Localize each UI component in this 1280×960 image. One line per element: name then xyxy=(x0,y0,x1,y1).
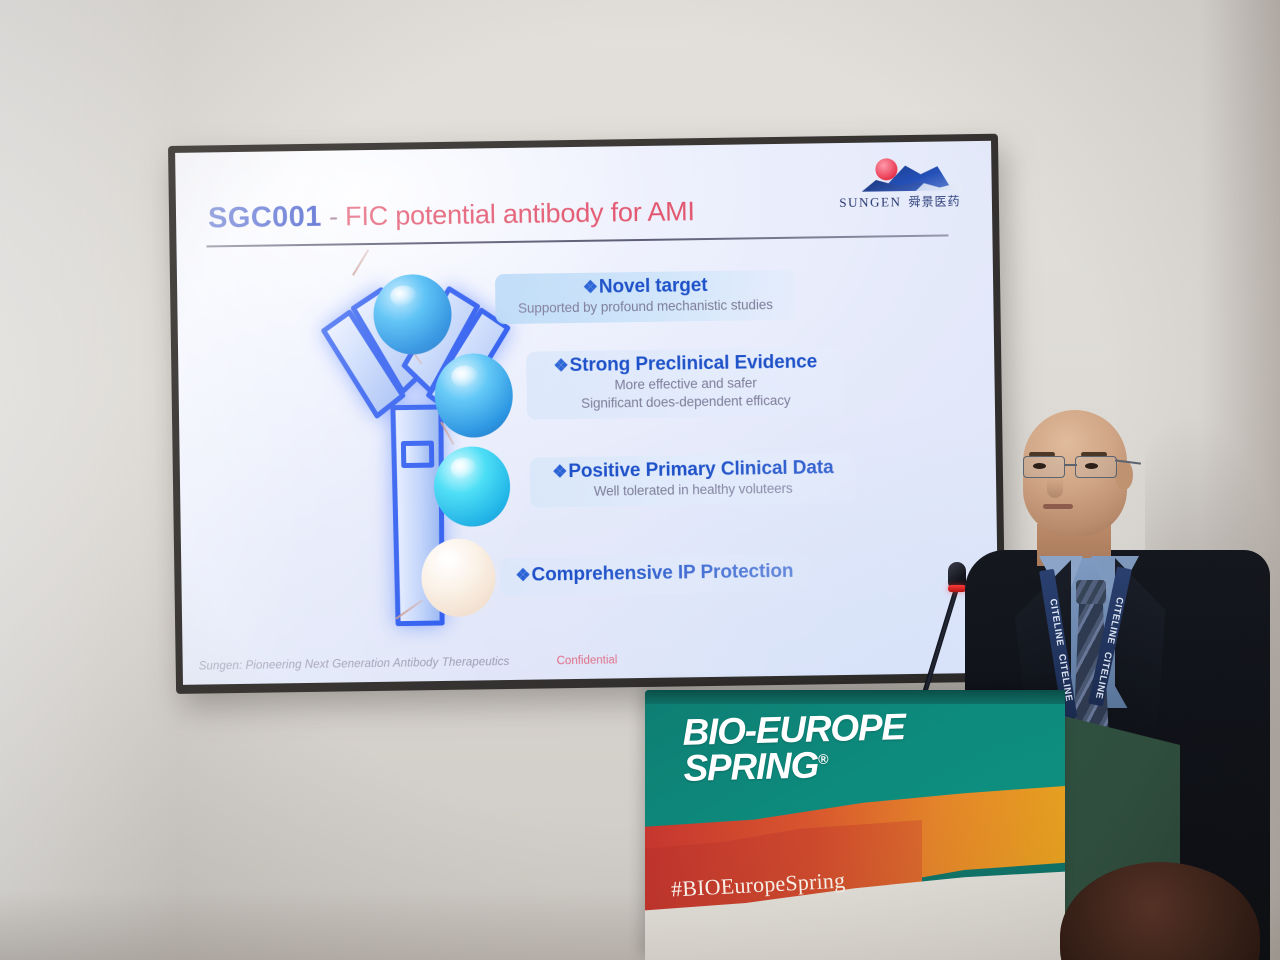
podium-event-title: BIO-EUROPE SPRING® xyxy=(682,709,906,787)
slide-title-rest: FIC potential antibody for AMI xyxy=(345,196,695,231)
diamond-bullet-icon: ❖ xyxy=(515,566,530,585)
bullet-item-3: ❖Positive Primary Clinical Data Well tol… xyxy=(530,453,857,508)
speaker-tie-knot xyxy=(1076,580,1106,604)
sun-icon xyxy=(875,158,897,180)
presentation-display[interactable]: SGC001 - FIC potential antibody for AMI … xyxy=(168,134,1006,694)
podium-front-panel: BIO-EUROPE SPRING® #BIOEuropeSpring xyxy=(645,690,1065,960)
podium-top-edge xyxy=(645,690,1065,704)
glasses-temple xyxy=(1115,459,1141,464)
slide-title-code: SGC001 xyxy=(208,201,322,235)
bullet-subtext-1: Supported by profound mechanistic studie… xyxy=(509,296,781,318)
logo-chinese-name: 舜景医药 xyxy=(908,192,960,210)
speaker-mouth xyxy=(1043,504,1073,509)
presentation-scene: SGC001 - FIC potential antibody for AMI … xyxy=(0,0,1280,960)
diamond-bullet-icon: ❖ xyxy=(583,278,598,297)
diamond-bullet-icon: ❖ xyxy=(553,356,568,375)
mountain-sun-logo-icon xyxy=(831,155,968,193)
sungen-logo: SUNGEN 舜景医药 xyxy=(831,155,968,219)
slide-footer-tagline: Sungen: Pioneering Next Generation Antib… xyxy=(199,656,510,673)
microphone-indicator-light xyxy=(948,585,966,592)
podium-title-line2: SPRING xyxy=(683,745,819,790)
tv-screen[interactable]: SGC001 - FIC potential antibody for AMI … xyxy=(175,141,999,685)
registered-mark-icon: ® xyxy=(818,751,828,767)
bullet-item-4: ❖Comprehensive IP Protection xyxy=(499,554,810,597)
bullet-heading-2: ❖Strong Preclinical Evidence xyxy=(540,351,830,377)
slide-title: SGC001 - FIC potential antibody for AMI xyxy=(208,195,695,235)
glasses-bridge xyxy=(1065,464,1077,466)
bullet-subtext-2b: Significant does-dependent efficacy xyxy=(541,391,831,413)
bullet-heading-4: ❖Comprehensive IP Protection xyxy=(513,561,795,587)
speaker-eye-left xyxy=(1033,463,1046,469)
bullet-heading-3: ❖Positive Primary Clinical Data xyxy=(544,457,842,483)
title-underline-rule xyxy=(206,234,948,247)
speaker-eye-right xyxy=(1085,463,1098,469)
slide-footer-confidential: Confidential xyxy=(557,654,618,667)
bullet-item-1: ❖Novel target Supported by profound mech… xyxy=(495,270,796,324)
speaker-nose xyxy=(1047,478,1063,498)
bullet-item-2: ❖Strong Preclinical Evidence More effect… xyxy=(526,347,845,419)
conference-podium: BIO-EUROPE SPRING® #BIOEuropeSpring xyxy=(645,690,1065,960)
diamond-bullet-icon: ❖ xyxy=(552,462,567,481)
logo-wordmark: SUNGEN xyxy=(839,194,902,211)
wall-light-sheen xyxy=(0,0,180,960)
slide-title-dash: - xyxy=(321,201,345,231)
slide-content: SGC001 - FIC potential antibody for AMI … xyxy=(175,141,999,685)
